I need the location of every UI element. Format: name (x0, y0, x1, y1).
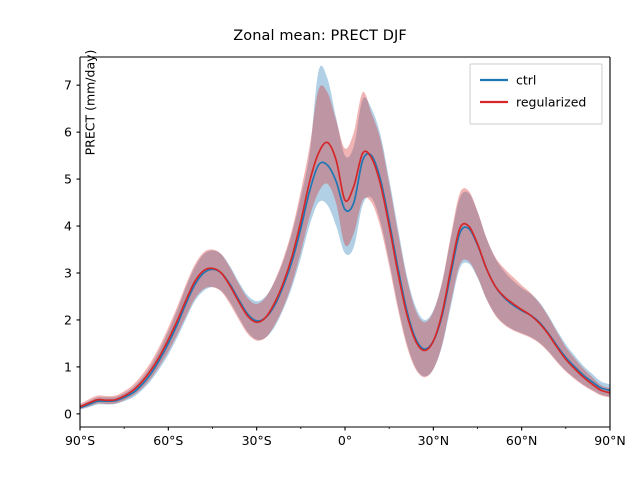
figure-canvas: Zonal mean: PRECT DJF PRECT (mm/day) 90°… (0, 0, 640, 480)
y-tick-label: 0 (64, 406, 72, 421)
x-tick-label: 30°N (418, 433, 450, 448)
plot-area[interactable]: 90°S60°S30°S0°30°N60°N90°N 01234567 ctrl… (0, 0, 640, 480)
x-tick-label: 60°N (506, 433, 538, 448)
y-axis-ticks: 01234567 (64, 78, 80, 422)
y-tick-label: 7 (64, 78, 72, 93)
x-axis-ticks: 90°S60°S30°S0°30°N60°N90°N (65, 427, 626, 448)
legend[interactable]: ctrlregularized (470, 64, 602, 124)
x-tick-label: 60°S (153, 433, 183, 448)
y-tick-label: 6 (64, 125, 72, 140)
x-tick-label: 0° (338, 433, 352, 448)
x-tick-label: 90°N (594, 433, 626, 448)
legend-label-regularized: regularized (516, 95, 586, 110)
legend-label-ctrl: ctrl (516, 73, 536, 88)
x-tick-label: 30°S (242, 433, 272, 448)
y-tick-label: 5 (64, 172, 72, 187)
x-tick-label: 90°S (65, 433, 95, 448)
y-tick-label: 3 (64, 265, 72, 280)
y-tick-label: 1 (64, 359, 72, 374)
y-tick-label: 2 (64, 312, 72, 327)
y-tick-label: 4 (64, 219, 72, 234)
